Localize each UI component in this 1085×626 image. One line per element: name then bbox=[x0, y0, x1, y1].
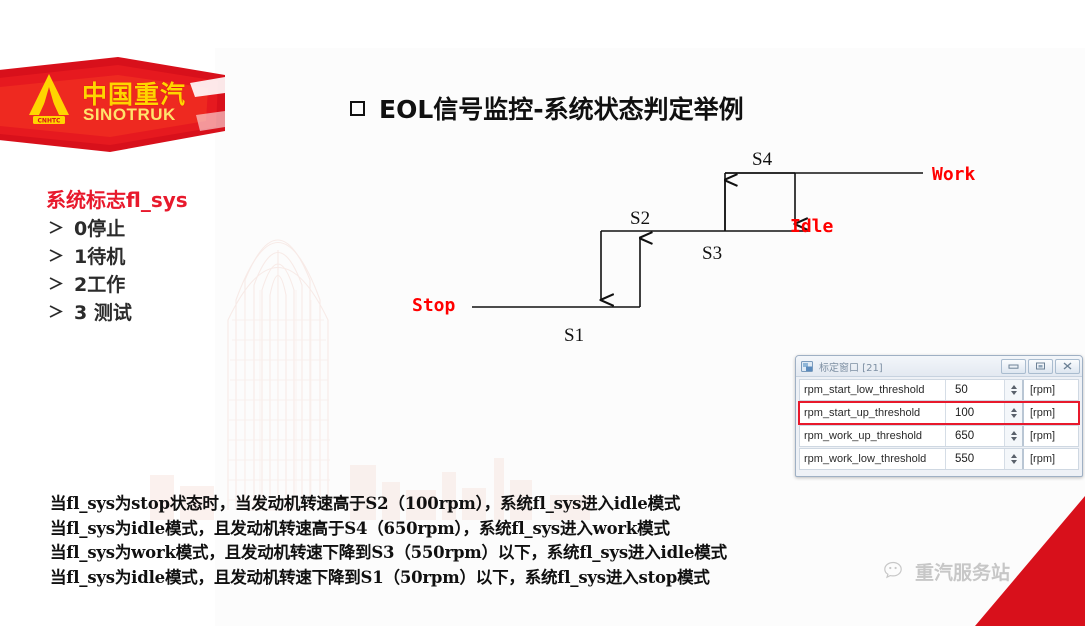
value-stepper[interactable] bbox=[1004, 403, 1024, 423]
page-title-text: EOL信号监控-系统状态判定举例 bbox=[379, 90, 744, 126]
s1-label: S1 bbox=[564, 325, 584, 347]
close-icon bbox=[1062, 361, 1073, 371]
value-stepper[interactable] bbox=[1004, 380, 1024, 400]
stepper-down-icon[interactable] bbox=[1011, 437, 1017, 441]
table-row[interactable]: rpm_start_low_threshold 50 [rpm] bbox=[799, 379, 1079, 401]
stepper-up-icon[interactable] bbox=[1011, 385, 1017, 389]
state-transition-diagram: S1 S2 S3 S4 Stop Idle Work bbox=[400, 140, 1040, 360]
svg-text:CNHTC: CNHTC bbox=[38, 118, 62, 125]
logo-text-english: SINOTRUK bbox=[83, 105, 176, 125]
sinotruk-logo: CNHTC 中国重汽 SINOTRUK bbox=[0, 57, 225, 152]
minimize-button[interactable] bbox=[1001, 359, 1026, 374]
stepper-up-icon[interactable] bbox=[1011, 431, 1017, 435]
list-item: 0停止 bbox=[48, 213, 132, 241]
parameter-unit: [rpm] bbox=[1024, 403, 1078, 423]
table-row[interactable]: rpm_work_up_threshold 650 [rpm] bbox=[799, 425, 1079, 447]
arrow-bullet-icon bbox=[48, 276, 65, 291]
slide-canvas: CNHTC 中国重汽 SINOTRUK EOL信号监控-系统状态判定举例 系统标… bbox=[0, 0, 1085, 626]
minimize-icon bbox=[1008, 362, 1019, 370]
stepper-down-icon[interactable] bbox=[1011, 460, 1017, 464]
parameter-value[interactable]: 50 bbox=[946, 380, 1004, 400]
parameter-unit: [rpm] bbox=[1024, 426, 1078, 446]
calibration-window[interactable]: 标定窗口 [21] bbox=[795, 355, 1083, 477]
list-item: 1待机 bbox=[48, 241, 132, 269]
list-item-label: 0停止 bbox=[74, 214, 125, 241]
description-line: 当fl_sys为stop状态时，当发动机转速高于S2（100rpm），系统fl_… bbox=[50, 492, 950, 517]
stepper-down-icon[interactable] bbox=[1011, 391, 1017, 395]
parameter-unit: [rpm] bbox=[1024, 449, 1078, 469]
description-block: 当fl_sys为stop状态时，当发动机转速高于S2（100rpm），系统fl_… bbox=[50, 492, 950, 590]
stepper-down-icon[interactable] bbox=[1011, 414, 1017, 418]
table-row[interactable]: rpm_work_low_threshold 550 [rpm] bbox=[799, 448, 1079, 470]
stepper-up-icon[interactable] bbox=[1011, 454, 1017, 458]
calibration-window-icon bbox=[801, 360, 814, 373]
parameter-name: rpm_work_up_threshold bbox=[800, 426, 946, 446]
parameter-value[interactable]: 100 bbox=[946, 403, 1004, 423]
description-line: 当fl_sys为idle模式，且发动机转速下降到S1（50rpm）以下，系统fl… bbox=[50, 566, 950, 591]
close-button[interactable] bbox=[1055, 359, 1080, 374]
s4-label: S4 bbox=[752, 149, 772, 171]
description-line: 当fl_sys为idle模式，且发动机转速高于S4（650rpm），系统fl_s… bbox=[50, 517, 950, 542]
stop-state-label: Stop bbox=[412, 295, 455, 316]
idle-state-label: Idle bbox=[790, 216, 833, 237]
calibration-window-title: 标定窗口 [21] bbox=[819, 359, 1001, 374]
arrow-bullet-icon bbox=[48, 304, 65, 319]
maximize-icon bbox=[1035, 361, 1046, 371]
maximize-button[interactable] bbox=[1028, 359, 1053, 374]
calibration-window-titlebar[interactable]: 标定窗口 [21] bbox=[796, 356, 1082, 377]
parameter-name: rpm_start_up_threshold bbox=[800, 403, 946, 423]
list-item: 3 测试 bbox=[48, 297, 132, 325]
sinotruk-emblem-icon: CNHTC bbox=[25, 71, 73, 127]
parameter-unit: [rpm] bbox=[1024, 380, 1078, 400]
list-item-label: 1待机 bbox=[74, 242, 125, 269]
left-panel-list: 0停止 1待机 2工作 3 测试 bbox=[48, 213, 132, 325]
parameter-name: rpm_work_low_threshold bbox=[800, 449, 946, 469]
value-stepper[interactable] bbox=[1004, 426, 1024, 446]
parameter-value[interactable]: 550 bbox=[946, 449, 1004, 469]
list-item: 2工作 bbox=[48, 269, 132, 297]
list-item-label: 3 测试 bbox=[74, 298, 132, 325]
left-panel-heading: 系统标志fl_sys bbox=[46, 184, 188, 213]
work-state-label: Work bbox=[932, 164, 975, 185]
s3-label: S3 bbox=[702, 243, 722, 265]
s2-label: S2 bbox=[630, 208, 650, 230]
arrow-bullet-icon bbox=[48, 220, 65, 235]
table-row[interactable]: rpm_start_up_threshold 100 [rpm] bbox=[799, 402, 1079, 424]
square-bullet-icon bbox=[350, 101, 365, 116]
calibration-parameter-table: rpm_start_low_threshold 50 [rpm] rpm_sta… bbox=[796, 377, 1082, 474]
value-stepper[interactable] bbox=[1004, 449, 1024, 469]
description-line: 当fl_sys为work模式，且发动机转速下降到S3（550rpm）以下，系统f… bbox=[50, 541, 950, 566]
list-item-label: 2工作 bbox=[74, 270, 125, 297]
red-corner-decoration bbox=[965, 491, 1085, 626]
page-title: EOL信号监控-系统状态判定举例 bbox=[350, 90, 744, 126]
parameter-value[interactable]: 650 bbox=[946, 426, 1004, 446]
parameter-name: rpm_start_low_threshold bbox=[800, 380, 946, 400]
stepper-up-icon[interactable] bbox=[1011, 408, 1017, 412]
arrow-bullet-icon bbox=[48, 248, 65, 263]
